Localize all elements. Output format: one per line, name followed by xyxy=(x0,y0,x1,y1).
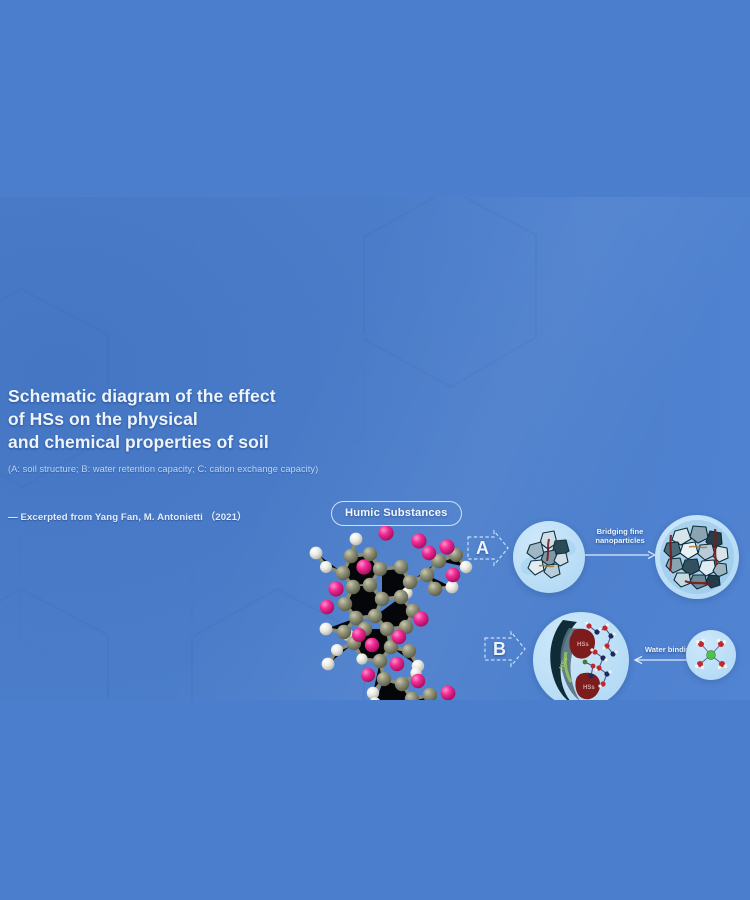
flow-badge-b-letter: B xyxy=(488,629,511,669)
flow-a-arrow-label: Bridging fine nanoparticles xyxy=(583,527,657,546)
flow-a-label-line-1: Bridging fine xyxy=(597,527,644,536)
flow-badge-a-letter: A xyxy=(471,528,494,568)
flow-a-arrow-right-icon xyxy=(585,550,657,560)
letterbox-bottom xyxy=(0,700,750,900)
humic-substances-label[interactable]: Humic Substances xyxy=(331,501,462,526)
scene-a-right-aggregated-particles xyxy=(655,515,739,599)
scene-b-mineral-with-hss-and-water: HSs HSs HSs xyxy=(533,612,629,700)
letterbox-top xyxy=(0,0,750,197)
slide-panel: Schematic diagram of the effect of HSs o… xyxy=(0,197,750,700)
svg-text:HSs: HSs xyxy=(577,642,589,648)
scene-a-left-dispersed-particles xyxy=(513,521,585,593)
svg-text:HSs: HSs xyxy=(583,685,595,691)
flow-badge-b[interactable]: B xyxy=(483,629,527,669)
flow-a-label-line-2: nanoparticles xyxy=(595,536,644,545)
flow-badge-a[interactable]: A xyxy=(466,528,510,568)
flow-diagram: A xyxy=(0,197,750,700)
scene-b-hydrated-cation-cluster xyxy=(686,630,736,680)
flow-b-arrow-left-icon xyxy=(633,655,693,665)
